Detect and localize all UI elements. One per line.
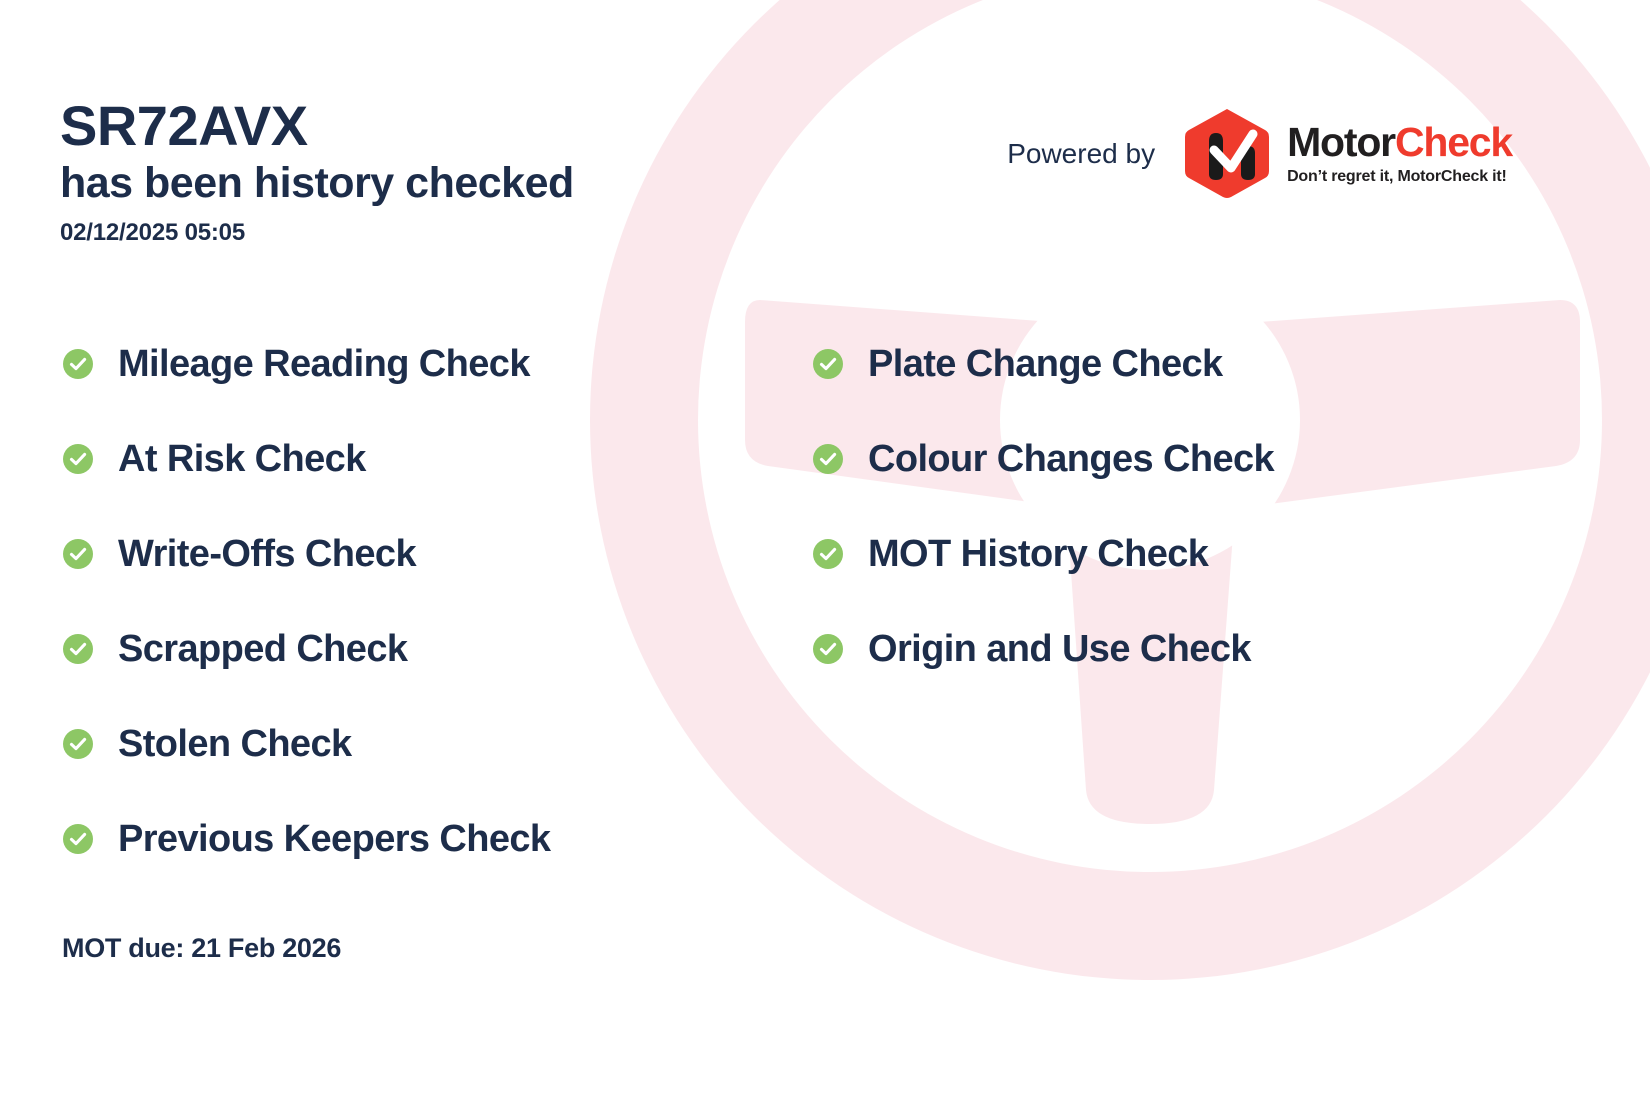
check-item-label: Stolen Check — [118, 725, 352, 763]
check-item: Plate Change Check — [812, 316, 1274, 411]
check-circle-icon — [62, 538, 94, 570]
check-circle-icon — [812, 538, 844, 570]
brand-tagline: Don’t regret it, MotorCheck it! — [1287, 168, 1512, 186]
check-item-label: Plate Change Check — [868, 345, 1223, 383]
powered-by-label: Powered by — [1007, 138, 1155, 170]
check-item: Mileage Reading Check — [62, 316, 550, 411]
header-block: SR72AVX has been history checked 02/12/2… — [60, 96, 574, 247]
check-item-label: Origin and Use Check — [868, 630, 1251, 668]
check-circle-icon — [62, 443, 94, 475]
check-item: Colour Changes Check — [812, 411, 1274, 506]
motorcheck-wordmark: MotorCheck — [1287, 122, 1512, 163]
check-circle-icon — [812, 348, 844, 380]
history-check-card: SR72AVX has been history checked 02/12/2… — [0, 0, 1650, 1100]
wordmark-check: Check — [1395, 119, 1512, 165]
check-item: Origin and Use Check — [812, 601, 1274, 696]
motorcheck-hexagon-icon — [1183, 108, 1271, 200]
check-item: Previous Keepers Check — [62, 791, 550, 886]
check-item-label: Write-Offs Check — [118, 535, 416, 573]
check-item: MOT History Check — [812, 506, 1274, 601]
registration-plate: SR72AVX — [60, 96, 574, 156]
check-item-label: Colour Changes Check — [868, 440, 1274, 478]
check-circle-icon — [62, 823, 94, 855]
check-timestamp: 02/12/2025 05:05 — [60, 219, 574, 247]
checklist-left-column: Mileage Reading Check At Risk Check Writ… — [62, 316, 550, 886]
check-item: Write-Offs Check — [62, 506, 550, 601]
check-item: At Risk Check — [62, 411, 550, 506]
check-item-label: MOT History Check — [868, 535, 1208, 573]
check-circle-icon — [62, 633, 94, 665]
mot-due-note: MOT due: 21 Feb 2026 — [62, 933, 341, 964]
powered-by-brand-lockup: Powered by MotorCheck Don’t regret it, M… — [1007, 108, 1512, 200]
check-circle-icon — [62, 728, 94, 760]
check-item-label: Previous Keepers Check — [118, 820, 550, 858]
check-circle-icon — [812, 443, 844, 475]
check-circle-icon — [812, 633, 844, 665]
wordmark-motor: Motor — [1287, 119, 1395, 165]
check-item-label: Scrapped Check — [118, 630, 407, 668]
check-item-label: At Risk Check — [118, 440, 366, 478]
motorcheck-logo[interactable]: MotorCheck Don’t regret it, MotorCheck i… — [1183, 108, 1512, 200]
check-item: Scrapped Check — [62, 601, 550, 696]
check-item: Stolen Check — [62, 696, 550, 791]
check-circle-icon — [62, 348, 94, 380]
motorcheck-wordmark-group: MotorCheck Don’t regret it, MotorCheck i… — [1287, 122, 1512, 186]
page-title: has been history checked — [60, 158, 574, 209]
check-item-label: Mileage Reading Check — [118, 345, 530, 383]
checklist-right-column: Plate Change Check Colour Changes Check … — [812, 316, 1274, 696]
